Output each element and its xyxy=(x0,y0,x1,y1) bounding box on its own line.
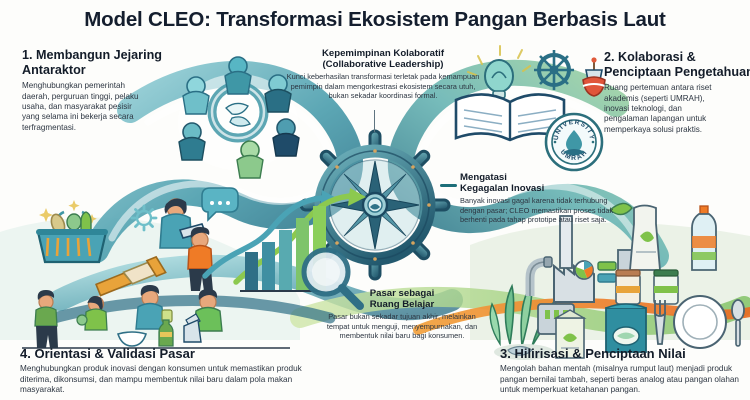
step-1-block: 1. Membangun Jejaring Antaraktor Menghub… xyxy=(22,48,192,133)
leadership-callout: Kepemimpinan Kolaboratif (Collaborative … xyxy=(285,48,481,101)
feedback-bubble-icon xyxy=(202,188,238,220)
packaged-food-icon xyxy=(556,206,716,359)
observer-person-icon xyxy=(188,227,213,291)
page-title: Model CLEO: Transformasi Ekosistem Panga… xyxy=(0,9,750,32)
svg-text:UMRAH: UMRAH xyxy=(559,149,590,162)
consumers-icon xyxy=(22,285,290,348)
innovation-failure-connector xyxy=(440,184,457,187)
step-1-heading: 1. Membangun Jejaring Antaraktor xyxy=(22,48,192,77)
umrah-seal-icon: UNIVERSITY UMRAH xyxy=(546,114,602,170)
step-4-block: 4. Orientasi & Validasi Pasar Menghubung… xyxy=(20,346,330,396)
market-learning-body: Pasar bukan sekadar tujuan akhir, melain… xyxy=(318,312,486,340)
survey-person-icon xyxy=(160,198,205,248)
market-learning-callout: Pasar sebagai Ruang Belajar Pasar bukan … xyxy=(318,288,486,341)
innovation-failure-callout: Mengatasi Kegagalan Inovasi Banyak inova… xyxy=(460,172,618,225)
leadership-heading-line2: (Collaborative Leadership) xyxy=(285,59,481,70)
gear-icon xyxy=(132,206,156,230)
innovation-failure-heading-line2: Kegagalan Inovasi xyxy=(460,183,618,194)
step-2-block: 2. Kolaborasi & Penciptaan Pengetahuan R… xyxy=(604,50,750,135)
shopping-basket-icon xyxy=(36,212,108,262)
step-1-body: Menghubungkan pemerintah daerah, perguru… xyxy=(22,81,150,133)
infographic-canvas: UNIVERSITY UMRAH xyxy=(0,0,750,400)
leadership-heading-line1: Kepemimpinan Kolaboratif xyxy=(285,48,481,59)
growth-chart-icon xyxy=(205,188,366,291)
plate-cutlery-icon xyxy=(655,296,744,348)
innovation-failure-body: Banyak inovasi gagal karena tidak terhub… xyxy=(460,196,618,224)
leadership-body: Kunci keberhasilan transformasi terletak… xyxy=(285,72,481,100)
step-2-heading: 2. Kolaborasi & Penciptaan Pengetahuan xyxy=(604,50,750,79)
market-learning-heading-line1: Pasar sebagai xyxy=(318,288,486,299)
step-3-block: 3. Hilirisasi & Penciptaan Nilai Mengola… xyxy=(500,346,748,396)
step-4-body: Menghubungkan produk inovasi dengan kons… xyxy=(20,364,330,396)
step-4-heading: 4. Orientasi & Validasi Pasar xyxy=(20,346,330,361)
telescope-icon xyxy=(95,256,166,299)
svg-text:UNIVERSITY: UNIVERSITY xyxy=(553,119,595,141)
buoy-icon xyxy=(583,57,605,96)
market-learning-heading-line2: Ruang Belajar xyxy=(318,299,486,310)
step-3-body: Mengolah bahan mentah (misalnya rumput l… xyxy=(500,364,748,396)
step-2-body: Ruang pertemuan antara riset akademis (s… xyxy=(604,83,728,135)
leadership-connector xyxy=(374,110,375,132)
step-3-heading: 3. Hilirisasi & Penciptaan Nilai xyxy=(500,346,748,361)
people-network-icon xyxy=(178,57,299,178)
innovation-failure-heading-line1: Mengatasi xyxy=(460,172,618,183)
small-ship-wheel-icon xyxy=(534,50,574,90)
